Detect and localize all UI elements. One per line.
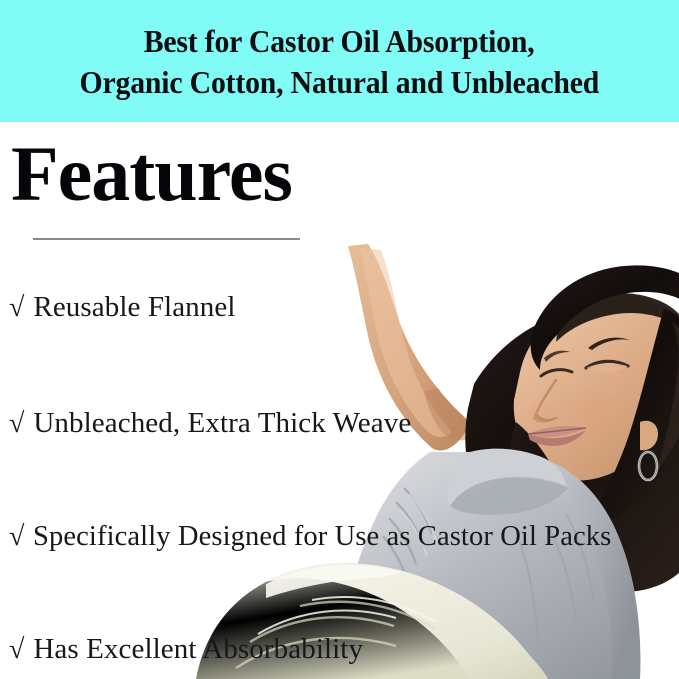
feature-list: √ Reusable Flannel √ Unbleached, Extra T… — [0, 122, 679, 679]
feature-label: Has Excellent Absorbability — [33, 632, 363, 666]
check-icon: √ — [9, 520, 24, 554]
feature-list-item: √ Reusable Flannel — [9, 290, 236, 325]
check-icon: √ — [9, 633, 24, 667]
header-banner: Best for Castor Oil Absorption, Organic … — [0, 0, 679, 122]
feature-label: Specifically Designed for Use as Castor … — [33, 519, 611, 553]
feature-label: Unbleached, Extra Thick Weave — [33, 406, 411, 440]
banner-headline-line-1: Best for Castor Oil Absorption, — [144, 21, 535, 62]
feature-list-item: √ Specifically Designed for Use as Casto… — [9, 519, 621, 554]
banner-headline-line-2: Organic Cotton, Natural and Unbleached — [80, 62, 600, 103]
feature-list-item: √ Has Excellent Absorbability — [9, 632, 363, 667]
product-feature-graphic: Best for Castor Oil Absorption, Organic … — [0, 0, 679, 679]
features-content: Features √ Reusable Flannel √ Unbleached… — [0, 122, 679, 679]
check-icon: √ — [9, 407, 24, 441]
feature-list-item: √ Unbleached, Extra Thick Weave — [9, 406, 411, 441]
check-icon: √ — [9, 291, 24, 325]
feature-label: Reusable Flannel — [33, 290, 235, 324]
